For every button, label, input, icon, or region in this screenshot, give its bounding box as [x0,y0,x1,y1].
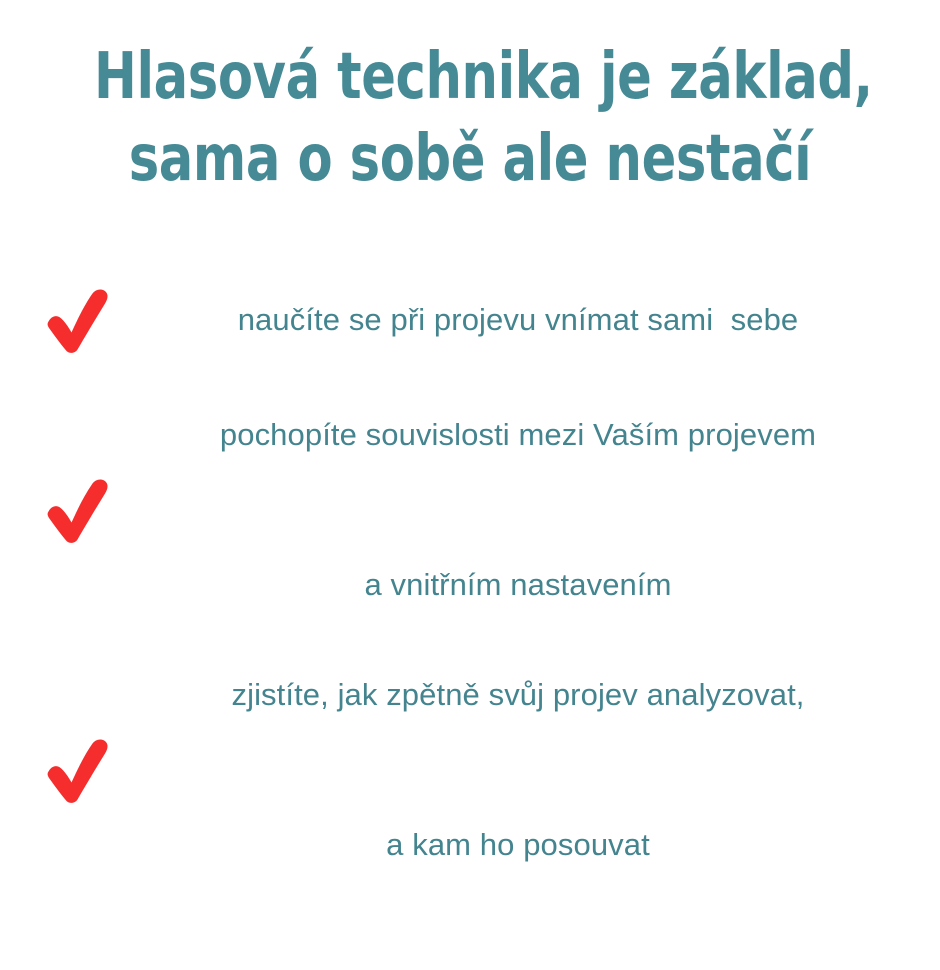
benefits-list: naučíte se při projevu vnímat sami sebe … [0,272,940,850]
promo-slide: Hlasová technika je základ, sama o sobě … [0,0,940,788]
list-item-text: zjistíte, jak zpětně svůj projev analyzo… [118,570,918,970]
title-line-2: sama o sobě ale nestačí [94,118,846,200]
list-item-line: pochopíte souvislosti mezi Vaším projeve… [118,410,918,460]
check-mark-icon [42,283,114,357]
list-item: pochopíte souvislosti mezi Vaším projeve… [0,430,940,590]
list-item-line: a kam ho posouvat [118,820,918,870]
list-item-line: zjistíte, jak zpětně svůj projev analyzo… [118,670,918,720]
list-item: zjistíte, jak zpětně svůj projev analyzo… [0,690,940,850]
check-mark-icon [42,473,114,547]
title-line-1: Hlasová technika je základ, [94,36,846,118]
page-title: Hlasová technika je základ, sama o sobě … [0,36,940,200]
check-mark-icon [42,733,114,807]
